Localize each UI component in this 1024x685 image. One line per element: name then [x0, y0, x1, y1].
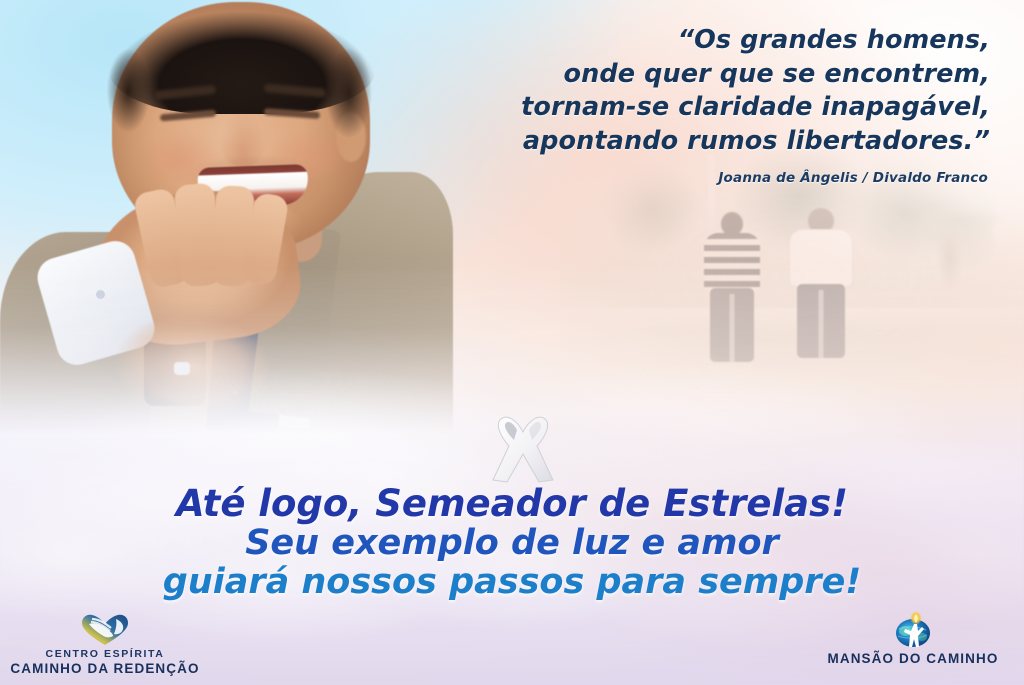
headline-line-1: Até logo, Semeador de Estrelas! [0, 484, 1024, 524]
mourning-ribbon-icon [487, 410, 559, 486]
memorial-poster: “Os grandes homens, onde quer que se enc… [0, 0, 1024, 685]
logo-left-line-2: CAMINHO DA REDENÇÃO [0, 661, 210, 677]
quote-text: “Os grandes homens, onde quer que se enc… [360, 24, 990, 158]
logo-mansao-do-caminho: MANSÃO DO CAMINHO [808, 612, 1018, 667]
quote-line-2: onde quer que se encontrem, [360, 58, 990, 92]
headline-line-2: Seu exemplo de luz e amor [0, 524, 1024, 563]
headline-line-3: guiará nossos passos para sempre! [0, 563, 1024, 602]
logo-right-line-1: MANSÃO DO CAMINHO [808, 651, 1018, 667]
logo-centro-espirita: CENTRO ESPÍRITA CAMINHO DA REDENÇÃO [0, 612, 210, 677]
headline-text: Até logo, Semeador de Estrelas! Seu exem… [0, 484, 1024, 602]
globe-figure-icon [808, 612, 1018, 648]
portrait-hair-left [96, 46, 152, 152]
logo-left-line-1: CENTRO ESPÍRITA [0, 648, 210, 661]
quote-line-1: “Os grandes homens, [360, 24, 990, 58]
heart-hands-icon [0, 612, 210, 648]
quote-line-3: tornam-se claridade inapagável, [360, 91, 990, 125]
quote-line-4: apontando rumos libertadores.” [360, 125, 990, 159]
quote-attribution: Joanna de Ângelis / Divaldo Franco [388, 170, 988, 186]
